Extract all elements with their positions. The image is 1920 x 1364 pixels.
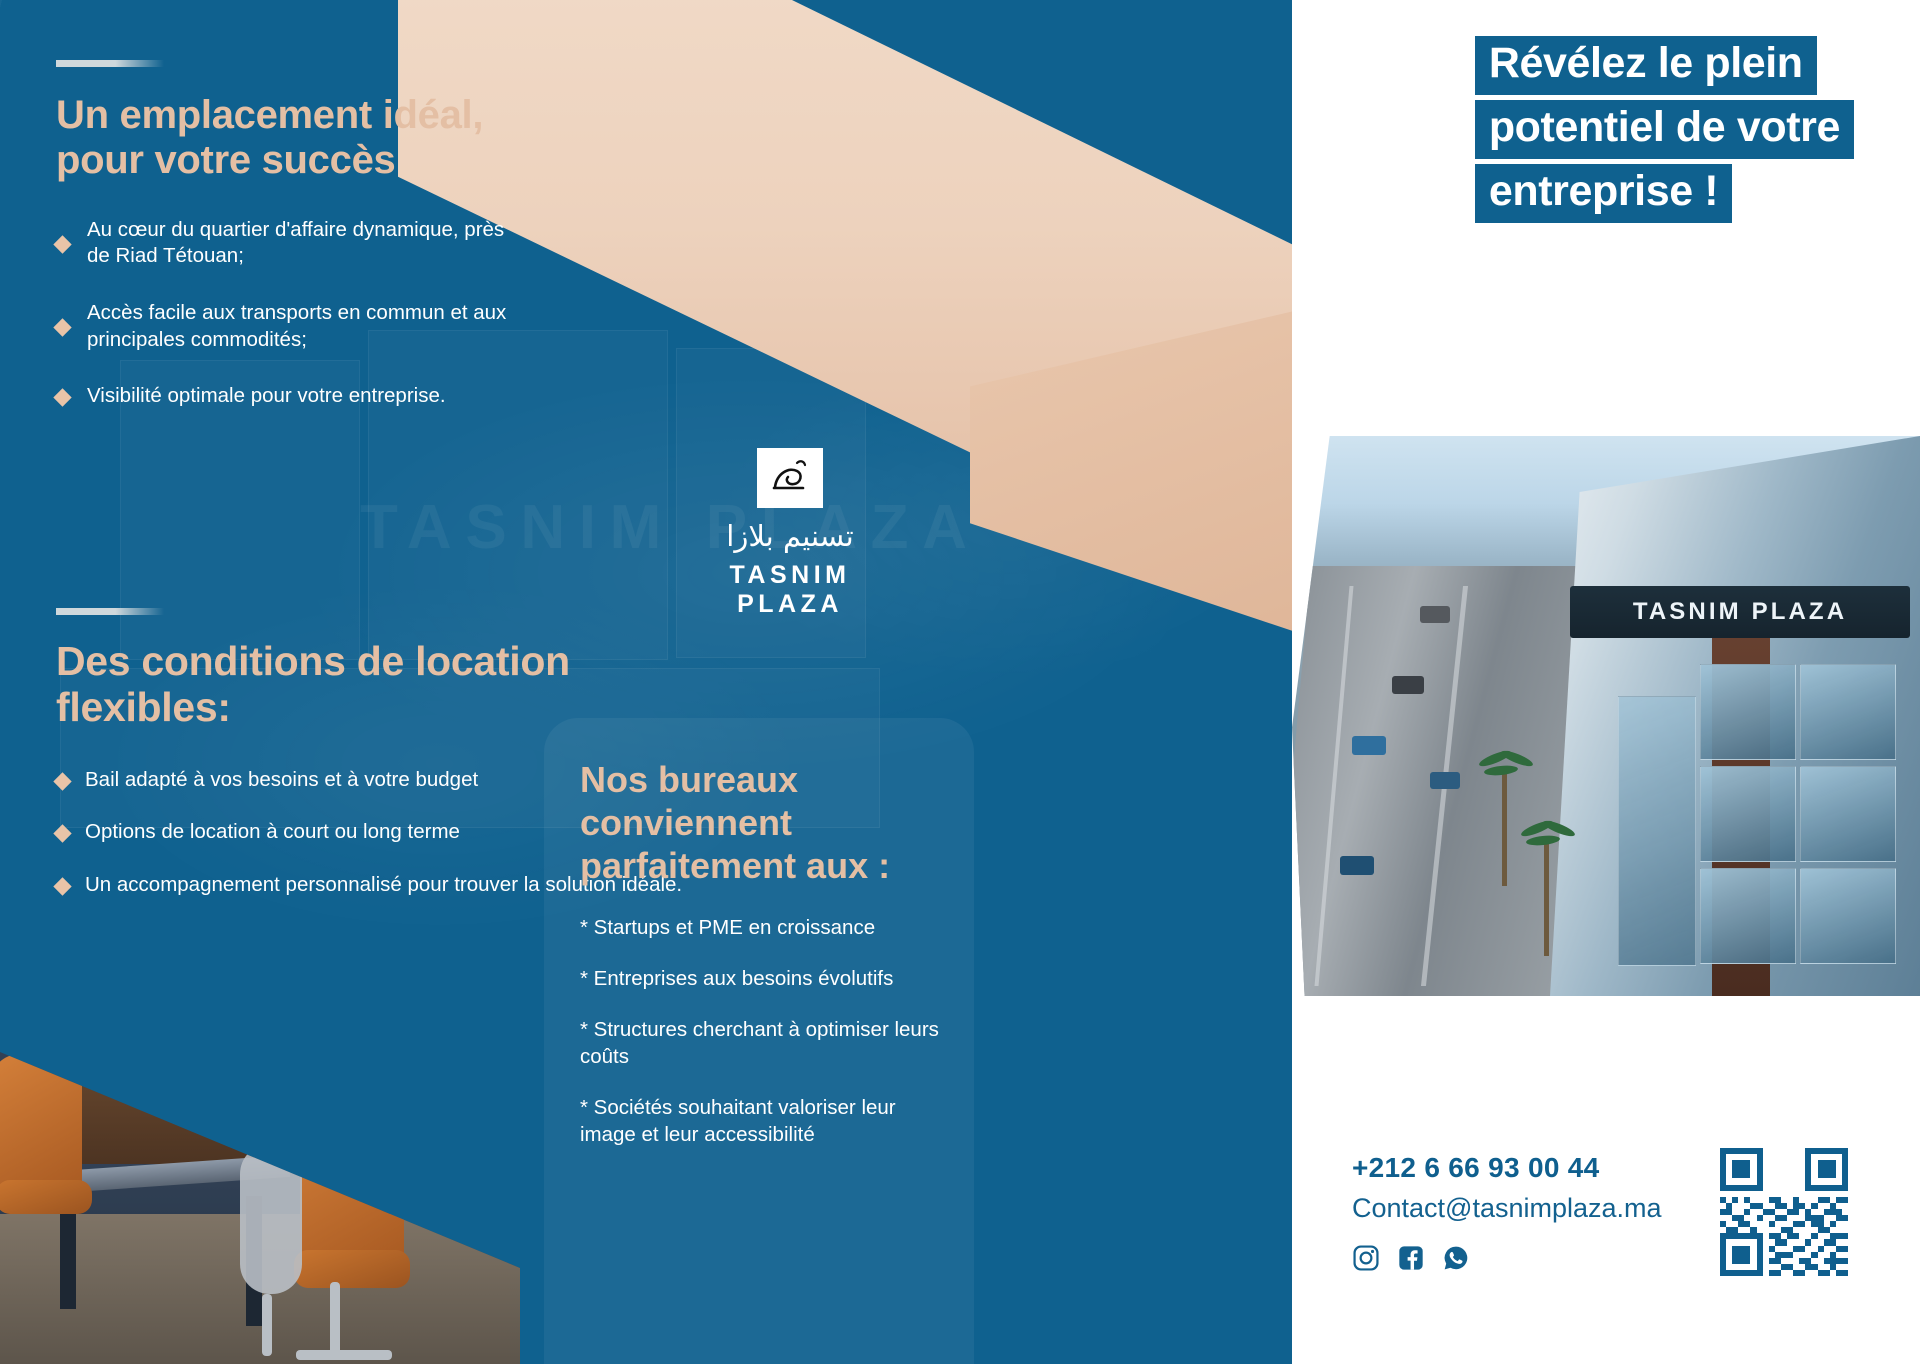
- photo-glass-panel: [1800, 766, 1896, 862]
- instagram-icon[interactable]: [1352, 1244, 1380, 1272]
- photo-glass-panel: [1800, 868, 1896, 964]
- photo-car: [1340, 856, 1374, 875]
- diamond-bullet-icon: [53, 388, 71, 406]
- building-photo: TASNIM PLAZA: [1292, 436, 1920, 996]
- photo-car: [1430, 772, 1460, 789]
- list-item: * Entreprises aux besoins évolutifs: [580, 965, 948, 992]
- list-item-text: Visibilité optimale pour votre entrepris…: [87, 383, 446, 410]
- photo-glass-panel: [1700, 664, 1796, 760]
- section-location-title: Un emplacement idéal, pour votre succès: [56, 93, 516, 183]
- section-location-bullets: Au cœur du quartier d'affaire dynamique,…: [56, 217, 516, 410]
- section-bureaux-title: Nos bureaux conviennent parfaitement aux…: [580, 758, 948, 888]
- headline-line: Révélez le plein: [1475, 36, 1817, 95]
- list-item: Au cœur du quartier d'affaire dynamique,…: [56, 217, 516, 270]
- photo-car: [1420, 606, 1450, 623]
- chair-leg: [262, 1294, 272, 1356]
- list-item-text: Bail adapté à vos besoins et à votre bud…: [85, 767, 478, 794]
- building-sign-text: TASNIM PLAZA: [1633, 598, 1847, 626]
- qr-code[interactable]: [1720, 1148, 1848, 1276]
- brand-logo: تسنيم بلازا TASNIM PLAZA: [672, 448, 908, 619]
- tasnim-monogram-icon: [757, 448, 823, 508]
- palm-trunk: [1502, 766, 1507, 886]
- list-item-text: Accès facile aux transports en commun et…: [87, 300, 516, 353]
- brand-name-arabic: تسنيم بلازا: [672, 522, 908, 551]
- section-location: Un emplacement idéal, pour votre succès …: [56, 60, 516, 440]
- chair-seat: [294, 1250, 410, 1288]
- palm-trunk: [1544, 836, 1549, 956]
- list-item: Visibilité optimale pour votre entrepris…: [56, 383, 516, 410]
- diamond-bullet-icon: [53, 825, 71, 843]
- section-rule: [56, 60, 164, 67]
- photo-car: [1392, 676, 1424, 694]
- list-item: * Sociétés souhaitant valoriser leur ima…: [580, 1094, 948, 1148]
- photo-car: [1352, 736, 1386, 755]
- list-item-text: Au cœur du quartier d'affaire dynamique,…: [87, 217, 516, 270]
- whatsapp-icon[interactable]: [1442, 1244, 1470, 1272]
- headline-line: entreprise !: [1475, 164, 1732, 223]
- list-item: * Structures cherchant à optimiser leurs…: [580, 1016, 948, 1070]
- photo-glass-panel: [1618, 696, 1696, 966]
- list-item: Accès facile aux transports en commun et…: [56, 300, 516, 353]
- section-bureaux: Nos bureaux conviennent parfaitement aux…: [544, 718, 974, 1364]
- photo-glass-panel: [1700, 868, 1796, 964]
- list-item: * Startups et PME en croissance: [580, 914, 948, 941]
- diamond-bullet-icon: [53, 318, 71, 336]
- list-item-text: Options de location à court ou long term…: [85, 819, 460, 846]
- building-sign: TASNIM PLAZA: [1570, 586, 1910, 638]
- chair-leg: [330, 1282, 340, 1358]
- headline: Révélez le plein potentiel de votre entr…: [1475, 36, 1854, 228]
- chair-seat: [0, 1180, 92, 1214]
- section-rule: [56, 608, 164, 615]
- brochure-page: TASNIM PLAZA TASNIM PLAZA: [0, 0, 1920, 1364]
- diamond-bullet-icon: [53, 877, 71, 895]
- chair-base: [296, 1350, 392, 1360]
- photo-glass-panel: [1800, 664, 1896, 760]
- brand-name-latin: TASNIM PLAZA: [672, 561, 908, 619]
- diamond-bullet-icon: [53, 772, 71, 790]
- section-bureaux-list: * Startups et PME en croissance * Entrep…: [580, 914, 948, 1148]
- diamond-bullet-icon: [53, 235, 71, 253]
- photo-glass-panel: [1700, 766, 1796, 862]
- facebook-icon[interactable]: [1397, 1244, 1425, 1272]
- headline-line: potentiel de votre: [1475, 100, 1854, 159]
